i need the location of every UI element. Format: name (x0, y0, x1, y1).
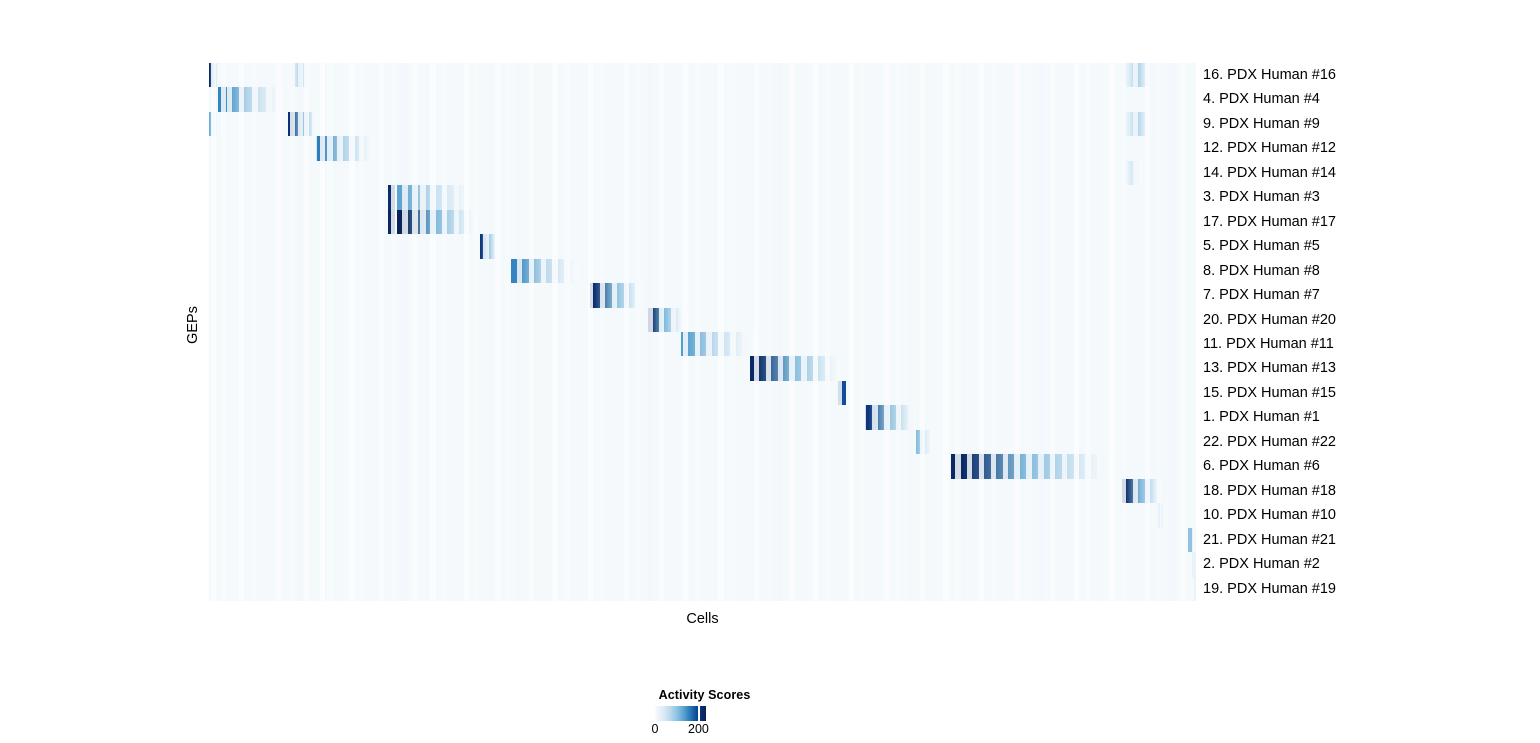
heatmap-plot-area (209, 63, 1196, 601)
row-label: 22. PDX Human #22 (1203, 430, 1533, 454)
row-label-list: 16. PDX Human #164. PDX Human #49. PDX H… (1203, 63, 1533, 601)
cell-cluster-stripe (659, 63, 664, 601)
colorbar-title: Activity Scores (600, 688, 809, 702)
cell-cluster-stripe (1097, 63, 1102, 601)
heatmap-row (209, 161, 1196, 185)
heatmap-row (209, 136, 1196, 160)
colorbar-tick-mark (698, 706, 700, 721)
cell-cluster-stripe (1085, 63, 1090, 601)
cell-cluster-stripe (266, 63, 271, 601)
cell-cluster-stripe (576, 63, 581, 601)
row-label: 19. PDX Human #19 (1203, 577, 1533, 601)
cell-cluster-stripe (647, 63, 652, 601)
heatmap-row (209, 528, 1196, 552)
heatmap-row (209, 283, 1196, 307)
cell-cluster-stripe (718, 63, 723, 601)
cell-cluster-stripe (483, 63, 488, 601)
colorbar-tick-labels: 0200 (654, 721, 764, 737)
cell-cluster-stripe (1133, 63, 1138, 601)
cell-cluster-stripe (1192, 63, 1196, 601)
cell-cluster-stripe (920, 63, 925, 601)
heatmap-activity-block (1122, 479, 1161, 503)
cell-cluster-stripe (742, 63, 747, 601)
heatmap-row (209, 430, 1196, 454)
cell-cluster-stripe (872, 63, 877, 601)
row-label: 20. PDX Human #20 (1203, 308, 1533, 332)
cell-cluster-stripe (541, 63, 546, 601)
heatmap-figure: GEPs Cells 16. PDX Human #164. PDX Human… (0, 0, 1540, 743)
cell-cluster-stripe (695, 63, 700, 601)
heatmap-row (209, 234, 1196, 258)
cell-cluster-stripe (1014, 63, 1019, 601)
cell-cluster-stripe (442, 63, 447, 601)
cell-cluster-stripe (320, 63, 325, 601)
heatmap-row (209, 356, 1196, 380)
row-label: 11. PDX Human #11 (1203, 332, 1533, 356)
cell-cluster-stripe (624, 63, 629, 601)
row-label: 4. PDX Human #4 (1203, 87, 1533, 111)
cell-cluster-stripe (239, 63, 244, 601)
heatmap-row (209, 405, 1196, 429)
cell-cluster-stripe (612, 63, 617, 601)
cell-cluster-stripe (412, 63, 417, 601)
cell-cluster-stripe (991, 63, 996, 601)
cell-cluster-stripe (517, 63, 522, 601)
row-label: 18. PDX Human #18 (1203, 479, 1533, 503)
row-label: 12. PDX Human #12 (1203, 136, 1533, 160)
cell-cluster-stripe (369, 63, 374, 601)
row-label: 9. PDX Human #9 (1203, 112, 1533, 136)
cell-cluster-stripe (1003, 63, 1008, 601)
cell-cluster-stripe (379, 63, 384, 601)
cell-cluster-stripe (683, 63, 688, 601)
colorbar-legend: Activity Scores 0200 (600, 688, 810, 737)
cell-cluster-stripe (327, 63, 332, 601)
cell-cluster-stripe (454, 63, 459, 601)
cell-cluster-stripe (1180, 63, 1185, 601)
colorbar-tick-label: 0 (652, 722, 659, 736)
cell-cluster-stripe (1050, 63, 1055, 601)
cell-cluster-stripe (564, 63, 569, 601)
cell-cluster-stripe (967, 63, 972, 601)
heatmap-row (209, 454, 1196, 478)
row-label: 17. PDX Human #17 (1203, 210, 1533, 234)
cell-cluster-stripe (1157, 63, 1162, 601)
row-label: 10. PDX Human #10 (1203, 503, 1533, 527)
cell-cluster-stripe (588, 63, 593, 601)
cell-cluster-stripe (766, 63, 771, 601)
heatmap-row (209, 112, 1196, 136)
cell-cluster-stripe (529, 63, 534, 601)
cell-cluster-stripe (464, 63, 469, 601)
row-label: 14. PDX Human #14 (1203, 161, 1533, 185)
cell-cluster-stripe (1074, 63, 1079, 601)
cell-cluster-stripe (1062, 63, 1067, 601)
cell-cluster-stripe (825, 63, 830, 601)
heatmap-row (209, 185, 1196, 209)
heatmap-row (209, 577, 1196, 601)
cell-cluster-stripe (706, 63, 711, 601)
cell-cluster-stripe (979, 63, 984, 601)
cell-cluster-stripe (1038, 63, 1043, 601)
row-label: 1. PDX Human #1 (1203, 405, 1533, 429)
heatmap-row (209, 308, 1196, 332)
cell-cluster-stripe (896, 63, 901, 601)
cell-cluster-stripe (1109, 63, 1114, 601)
row-label: 3. PDX Human #3 (1203, 185, 1533, 209)
row-label: 8. PDX Human #8 (1203, 259, 1533, 283)
cell-cluster-stripe (552, 63, 557, 601)
cell-cluster-stripe (495, 63, 500, 601)
heatmap-row (209, 381, 1196, 405)
cell-cluster-stripe (801, 63, 806, 601)
colorbar-bar-wrap (654, 706, 706, 721)
heatmap-row (209, 479, 1196, 503)
cell-cluster-stripe (290, 63, 295, 601)
cell-cluster-stripe (252, 63, 257, 601)
heatmap-activity-block (648, 308, 683, 332)
cell-cluster-stripe (1121, 63, 1126, 601)
cell-cluster-stripe (778, 63, 783, 601)
cell-cluster-stripe (359, 63, 364, 601)
cell-cluster-stripe (908, 63, 913, 601)
cell-cluster-stripe (505, 63, 510, 601)
colorbar-tick-label: 200 (688, 722, 709, 736)
cell-cluster-stripe (789, 63, 794, 601)
cell-cluster-stripe (931, 63, 936, 601)
row-label: 13. PDX Human #13 (1203, 356, 1533, 380)
row-label: 15. PDX Human #15 (1203, 381, 1533, 405)
heatmap-row (209, 259, 1196, 283)
row-label: 6. PDX Human #6 (1203, 454, 1533, 478)
row-label: 21. PDX Human #21 (1203, 528, 1533, 552)
cell-cluster-stripe (1145, 63, 1150, 601)
cell-cluster-stripe (849, 63, 854, 601)
row-label: 7. PDX Human #7 (1203, 283, 1533, 307)
heatmap-row (209, 332, 1196, 356)
cell-cluster-stripe (754, 63, 759, 601)
x-axis-label: Cells (209, 611, 1196, 627)
heatmap-row (209, 552, 1196, 576)
cell-cluster-stripe (860, 63, 865, 601)
cell-cluster-stripe (813, 63, 818, 601)
cell-cluster-stripe (600, 63, 605, 601)
cell-cluster-stripe (955, 63, 960, 601)
cell-cluster-stripe (1026, 63, 1031, 601)
cell-cluster-stripe (276, 63, 281, 601)
row-label: 16. PDX Human #16 (1203, 63, 1533, 87)
cell-cluster-stripe (312, 63, 317, 601)
cell-cluster-stripe (671, 63, 676, 601)
cell-cluster-stripe (635, 63, 640, 601)
cell-cluster-stripe (391, 63, 396, 601)
cell-cluster-stripe (837, 63, 842, 601)
cell-cluster-stripe (349, 63, 354, 601)
heatmap-row (209, 210, 1196, 234)
heatmap-row (209, 503, 1196, 527)
cell-cluster-stripe (884, 63, 889, 601)
cell-cluster-stripe (304, 63, 309, 601)
row-label: 2. PDX Human #2 (1203, 552, 1533, 576)
cell-cluster-stripe (298, 63, 303, 601)
cell-cluster-stripe (1168, 63, 1173, 601)
row-label: 5. PDX Human #5 (1203, 234, 1533, 258)
heatmap-row (209, 87, 1196, 111)
cell-cluster-stripe (474, 63, 479, 601)
cell-cluster-stripe (420, 63, 425, 601)
cell-cluster-stripe (337, 63, 342, 601)
cell-cluster-stripe (730, 63, 735, 601)
y-axis-label: GEPs (158, 295, 228, 355)
cell-cluster-stripe (430, 63, 435, 601)
cell-cluster-stripe (943, 63, 948, 601)
heatmap-row (209, 63, 1196, 87)
cell-cluster-stripe (402, 63, 407, 601)
